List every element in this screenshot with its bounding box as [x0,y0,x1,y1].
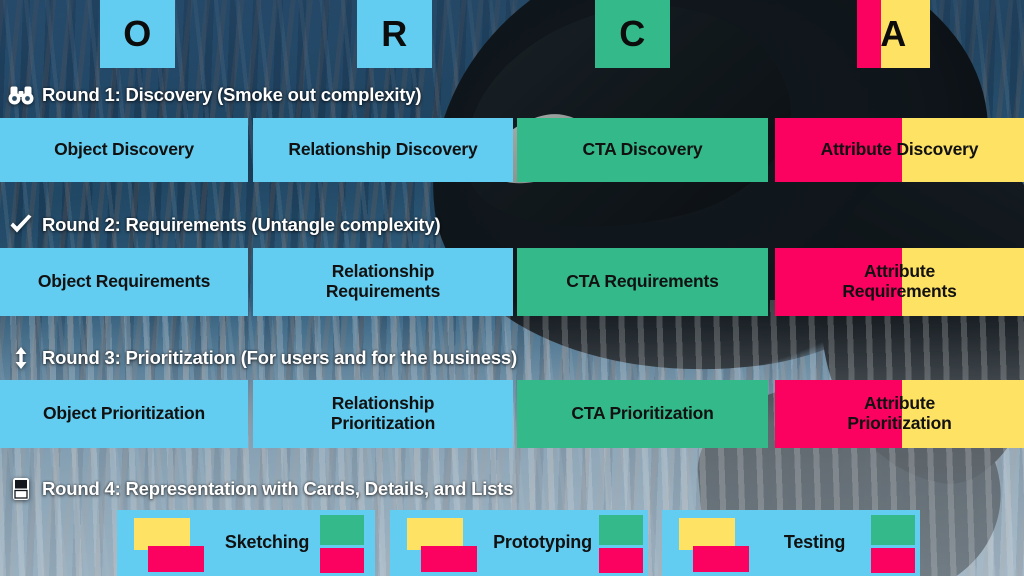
round-2-label-attribute: Attribute Requirements [775,262,1024,301]
round-3-label-cta: CTA Prioritization [571,404,713,424]
round-1-bar-object[interactable]: Object Discovery [0,118,248,182]
round-2-label-cta: CTA Requirements [566,272,718,292]
round-3-label-object: Object Prioritization [43,404,205,424]
up-down-arrow-icon [8,346,34,370]
prototyping-pink-swatch-2 [599,548,643,573]
round-1-bar-attribute[interactable]: Attribute Discovery [775,118,1024,182]
round-3-label-relationship: Relationship Prioritization [331,394,435,433]
round-1-bar-cta[interactable]: CTA Discovery [517,118,768,182]
round-2-bar-attribute[interactable]: Attribute Requirements [775,248,1024,316]
checkmark-icon [8,213,34,237]
orca-letter-o: O [123,16,152,52]
round-1-label-object: Object Discovery [54,140,194,160]
round-4-heading: Round 4: Representation with Cards, Deta… [8,476,513,502]
round-1-heading: Round 1: Discovery (Smoke out complexity… [8,82,421,108]
round-3-heading-text: Round 3: Prioritization (For users and f… [42,347,517,369]
round-2-heading-text: Round 2: Requirements (Untangle complexi… [42,214,440,236]
sketching-pink-swatch [148,546,204,572]
round-3-bar-attribute[interactable]: Attribute Prioritization [775,380,1024,448]
round-1-label-relationship: Relationship Discovery [288,140,477,160]
round-4-label-sketching: Sketching [212,532,322,553]
round-4-heading-text: Round 4: Representation with Cards, Deta… [42,478,513,500]
testing-pink-swatch [693,546,749,572]
orca-letter-a-pink-half [857,0,881,68]
round-4-card-testing[interactable]: Testing [662,510,920,576]
prototyping-green-swatch [599,515,643,545]
orca-letter-tile-a: A [857,0,930,68]
round-3-bar-object[interactable]: Object Prioritization [0,380,248,448]
round-2-label-object: Object Requirements [38,272,210,292]
round-4-label-prototyping: Prototyping [480,532,605,553]
round-4-card-prototyping[interactable]: Prototyping [390,510,648,576]
orca-letter-tile-c: C [595,0,670,68]
round-2-heading: Round 2: Requirements (Untangle complexi… [8,212,440,238]
round-3-label-attribute: Attribute Prioritization [775,394,1024,433]
orca-acronym-header: O R C A [0,0,1024,70]
orca-letter-a: A [880,16,907,52]
testing-green-swatch [871,515,915,545]
round-1-heading-text: Round 1: Discovery (Smoke out complexity… [42,84,421,106]
sketching-pink-swatch-2 [320,548,364,573]
testing-pink-swatch-2 [871,548,915,573]
round-4-card-sketching[interactable]: Sketching [117,510,375,576]
round-3-bar-relationship[interactable]: Relationship Prioritization [253,380,513,448]
card-layout-icon [8,477,34,501]
sketching-green-swatch [320,515,364,545]
orca-letter-r: R [381,16,408,52]
orca-letter-tile-o: O [100,0,175,68]
round-4-label-testing: Testing [757,532,872,553]
round-1-label-cta: CTA Discovery [583,140,703,160]
round-3-heading: Round 3: Prioritization (For users and f… [8,345,517,371]
round-1-label-attribute: Attribute Discovery [775,140,1024,160]
orca-letter-c: C [619,16,646,52]
round-2-bar-object[interactable]: Object Requirements [0,248,248,316]
binoculars-icon [8,83,34,107]
round-1-bar-relationship[interactable]: Relationship Discovery [253,118,513,182]
round-3-bar-cta[interactable]: CTA Prioritization [517,380,768,448]
orca-letter-tile-r: R [357,0,432,68]
prototyping-pink-swatch [421,546,477,572]
round-2-bar-relationship[interactable]: Relationship Requirements [253,248,513,316]
round-2-bar-cta[interactable]: CTA Requirements [517,248,768,316]
round-2-label-relationship: Relationship Requirements [326,262,440,301]
